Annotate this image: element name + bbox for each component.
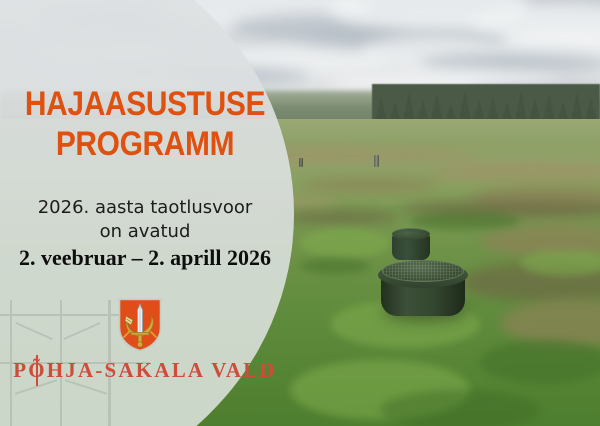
application-date-range: 2. veebruar – 2. aprill 2026 — [0, 245, 290, 271]
septic-tank-large — [378, 258, 468, 320]
subtitle-line-2: on avatud — [100, 221, 191, 242]
wordmark-suffix: HJA-SAKALA VALD — [47, 358, 277, 382]
wordmark-prefix: P — [13, 358, 28, 382]
coat-of-arms-icon — [118, 298, 162, 352]
municipality-wordmark: PÕHJA-SAKALA VALD — [0, 358, 290, 383]
headline-line-1: HAJAASUSTUSE — [17, 84, 272, 124]
subtitle-line-1: 2026. aasta taotlusvoor — [38, 197, 253, 218]
headline-line-2: PROGRAMM — [17, 124, 272, 164]
poster-headline: HAJAASUSTUSE PROGRAMM — [17, 84, 272, 164]
pipe-marker — [374, 155, 379, 167]
poster-subtitle: 2026. aasta taotlusvoor on avatud — [0, 196, 290, 244]
poster: HAJAASUSTUSE PROGRAMM 2026. aasta taotlu… — [0, 0, 600, 426]
pipe-marker-secondary — [299, 158, 303, 167]
wordmark-o-glyph: Õ — [28, 358, 47, 383]
septic-tank-small — [392, 228, 430, 262]
